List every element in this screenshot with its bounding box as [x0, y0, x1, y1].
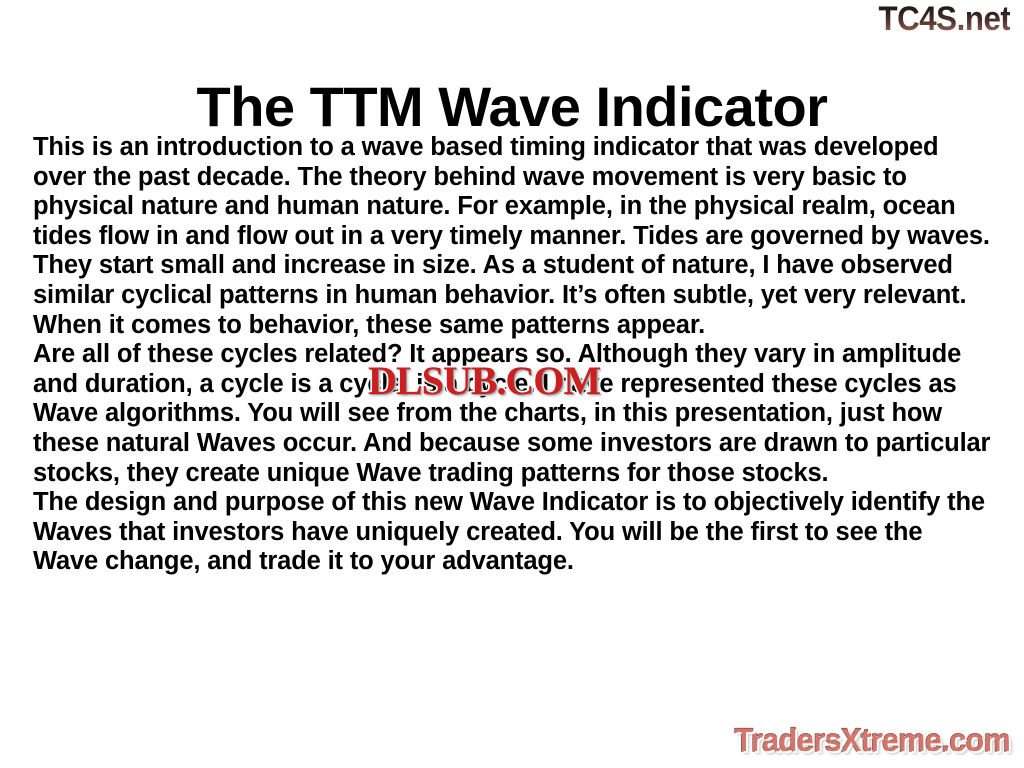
dlsub-watermark: DLSUB.COM — [368, 361, 600, 401]
slide-canvas: TC4S.net The TTM Wave Indicator This is … — [0, 0, 1024, 768]
page-title: The TTM Wave Indicator — [0, 78, 1024, 137]
body-text-block: This is an introduction to a wave based … — [33, 133, 993, 577]
tc4s-brand-logo: TC4S.net — [878, 2, 1010, 36]
body-paragraph-3: The design and purpose of this new Wave … — [33, 488, 993, 577]
body-paragraph-1: This is an introduction to a wave based … — [33, 133, 993, 340]
tradersxtreme-brand-logo: TradersXtreme.com — [734, 724, 1010, 756]
